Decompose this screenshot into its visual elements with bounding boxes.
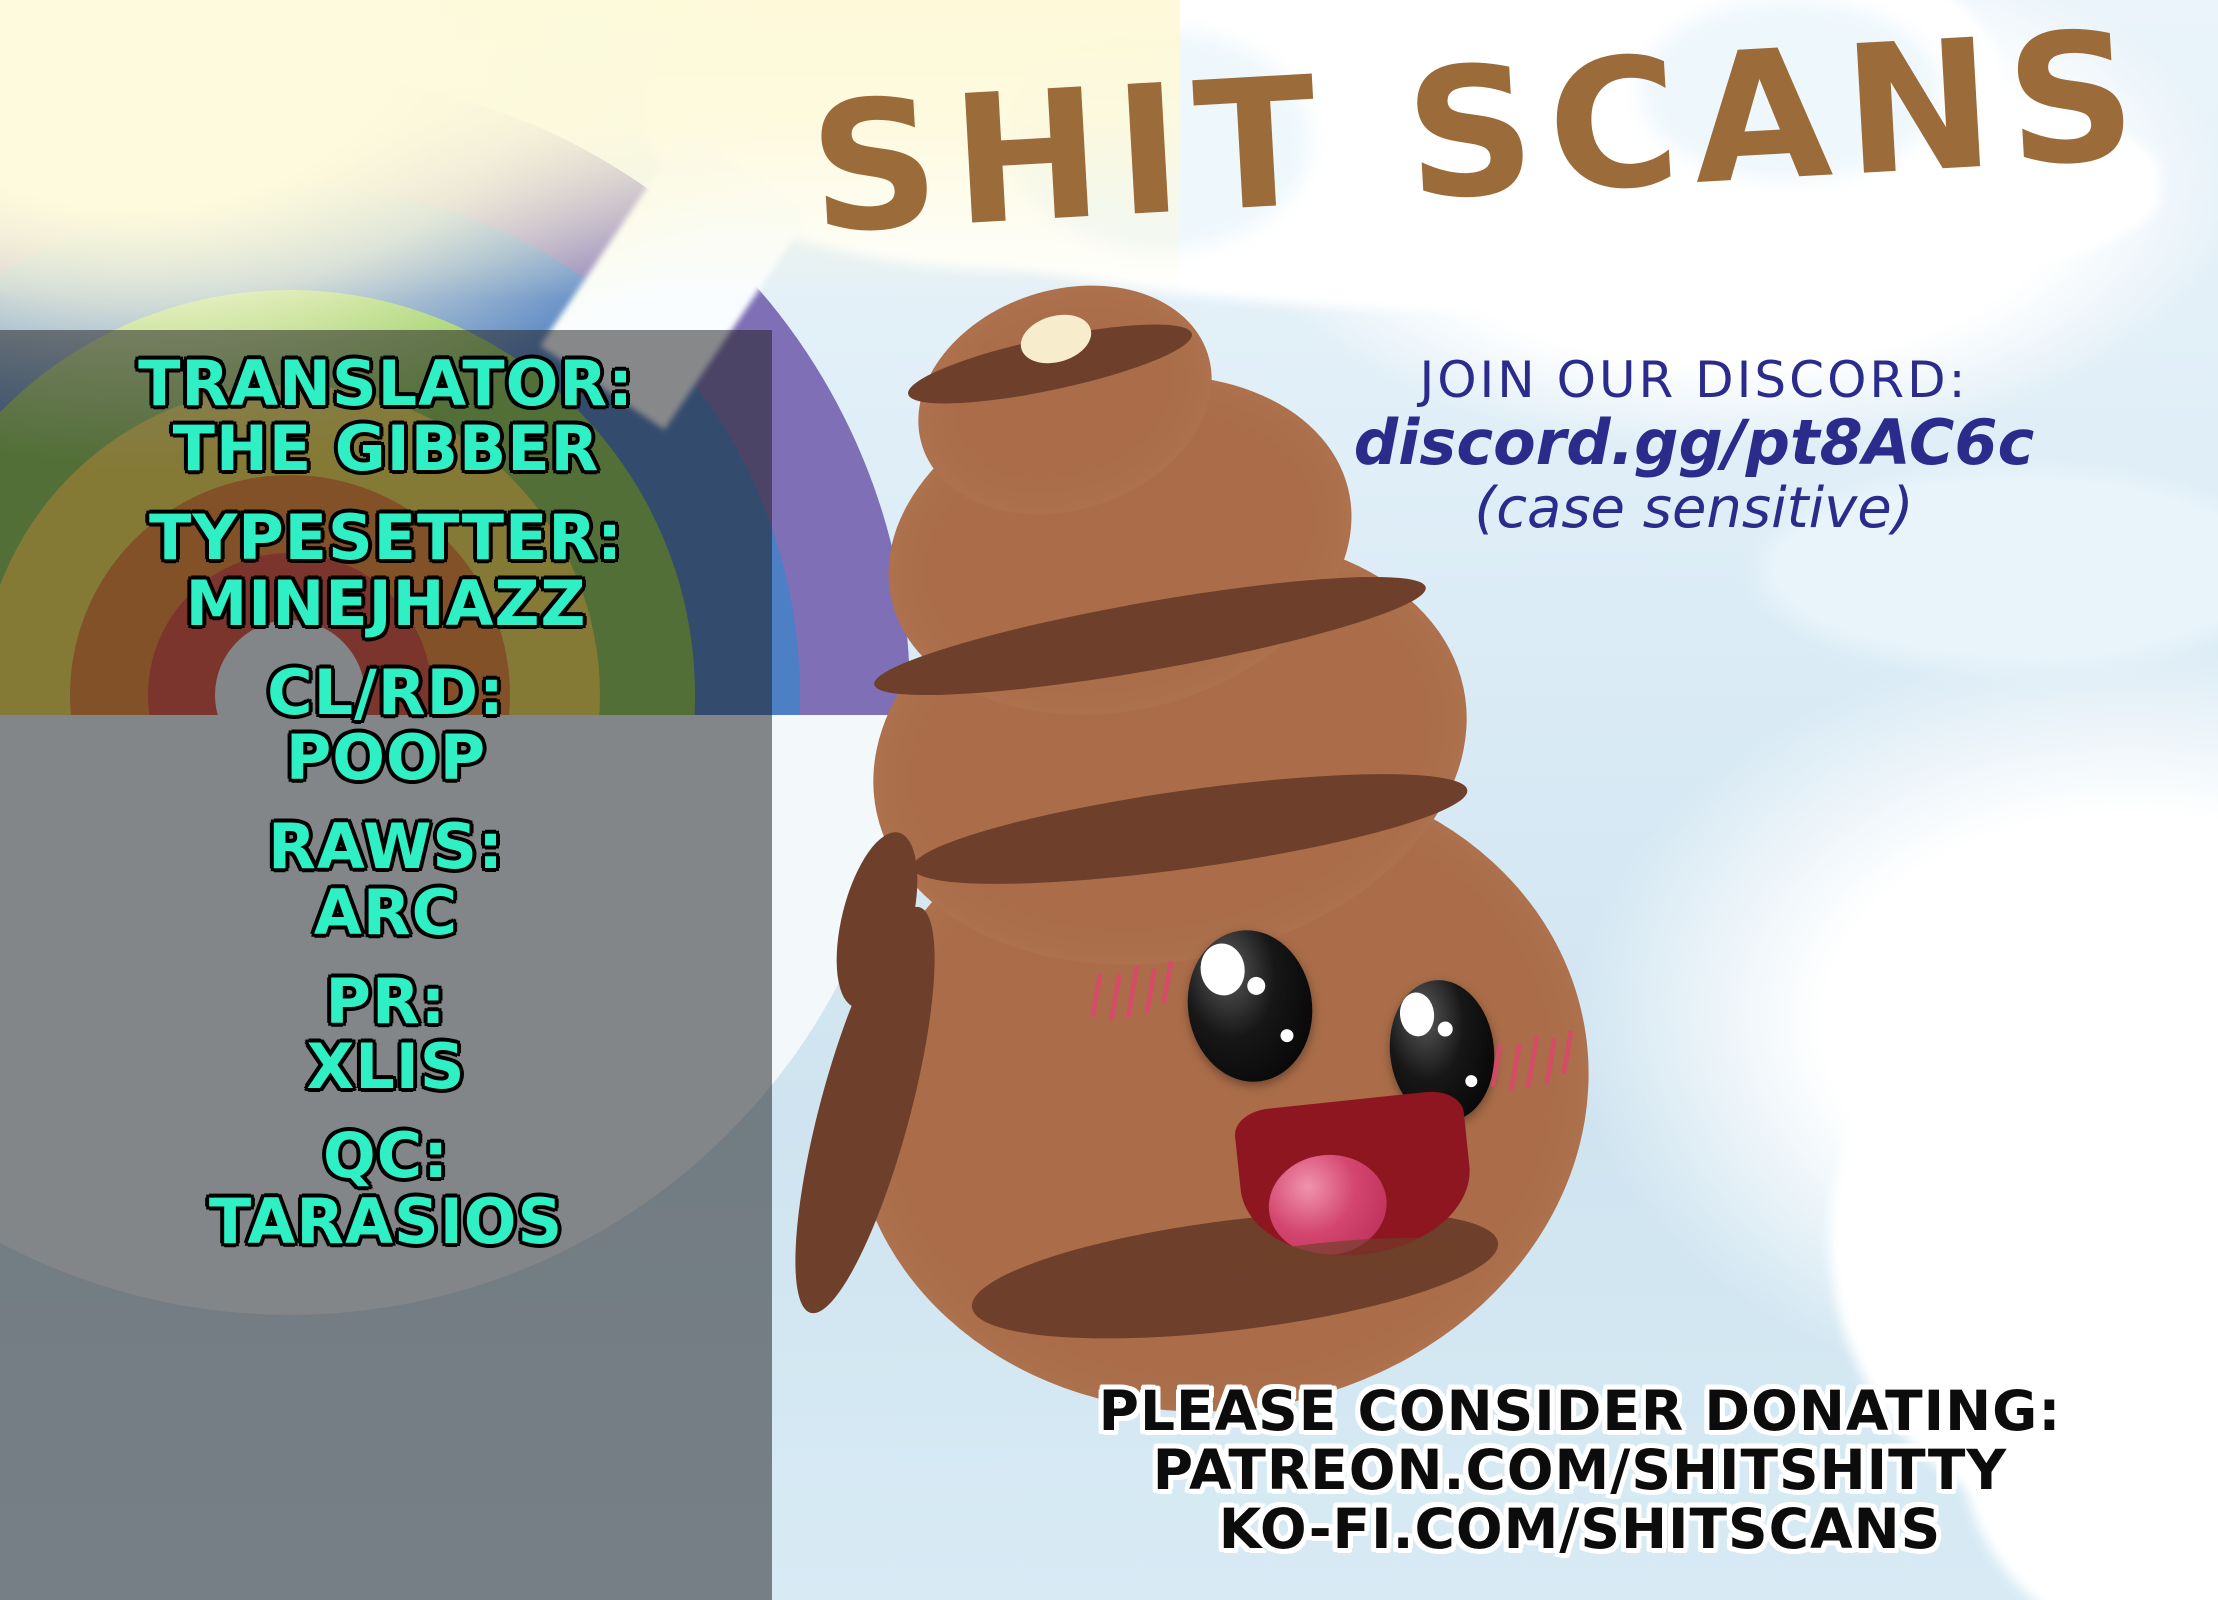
patreon-link[interactable]: PATREON.COM/SHITSHITTY [1050, 1441, 2110, 1500]
donation-info: PLEASE CONSIDER DONATING: PATREON.COM/SH… [1050, 1382, 2110, 1559]
credit-role: RAWS: [268, 815, 504, 878]
credit-entry: PR: XLIS [306, 970, 465, 1098]
credit-role: TRANSLATOR: [138, 352, 634, 415]
credit-entry: CL/RD: POOP [267, 661, 505, 789]
eye-highlight-lower [1280, 1028, 1295, 1043]
credit-role: PR: [306, 970, 465, 1033]
credit-name: THE GIBBER [138, 417, 634, 480]
eye-highlight-large [1398, 991, 1436, 1038]
poster-canvas: SHIT SCANS JOIN OUR DISCORD: discord.gg/… [0, 0, 2218, 1600]
credit-name: XLIS [306, 1035, 465, 1098]
credits-panel: TRANSLATOR: THE GIBBER TYPESETTER: MINEJ… [0, 330, 772, 1600]
credit-entry: TYPESETTER: MINEJHAZZ [149, 506, 623, 634]
credit-entry: QC: TARASIOS [209, 1124, 563, 1252]
discord-case-note: (case sensitive) [1194, 477, 2194, 541]
eye-highlight-small [1246, 976, 1266, 996]
kofi-link[interactable]: KO-FI.COM/SHITSCANS [1050, 1500, 2110, 1559]
credit-entry: RAWS: ARC [268, 815, 504, 943]
credit-role: TYPESETTER: [149, 506, 623, 569]
discord-invite-link[interactable]: discord.gg/pt8AC6c [1194, 408, 2194, 477]
discord-label: JOIN OUR DISCORD: [1194, 352, 2194, 408]
credit-entry: TRANSLATOR: THE GIBBER [138, 352, 634, 480]
credit-name: ARC [268, 881, 504, 944]
eye-highlight-lower [1465, 1075, 1478, 1088]
credit-role: CL/RD: [267, 661, 505, 724]
credit-name: MINEJHAZZ [149, 572, 623, 635]
credit-name: TARASIOS [209, 1190, 563, 1253]
eye-highlight-small [1437, 1021, 1453, 1037]
discord-info: JOIN OUR DISCORD: discord.gg/pt8AC6c (ca… [1194, 352, 2194, 541]
credit-role: QC: [209, 1124, 563, 1187]
credit-name: POOP [267, 726, 505, 789]
donate-label: PLEASE CONSIDER DONATING: [1050, 1382, 2110, 1441]
